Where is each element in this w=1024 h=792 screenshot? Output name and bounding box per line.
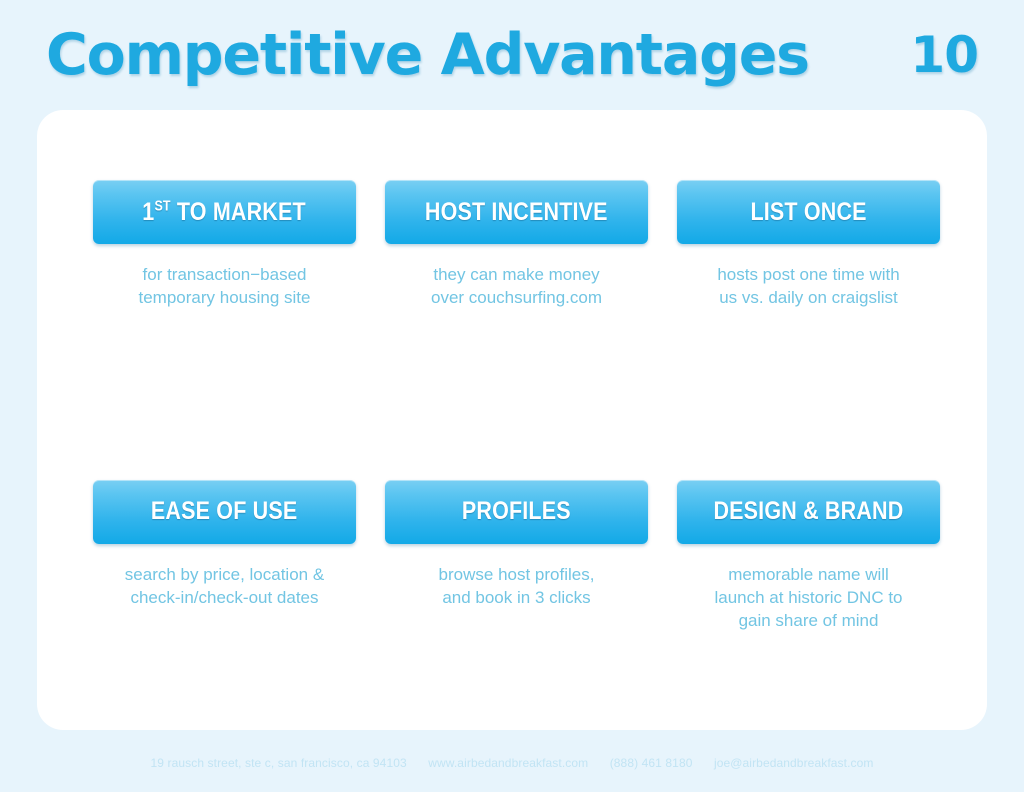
advantage-button-list-once[interactable]: LIST ONCE — [677, 180, 940, 244]
advantage-button-first-to-market[interactable]: 1st TO MARKET — [93, 180, 356, 244]
advantage-caption: browse host profiles, and book in 3 clic… — [385, 564, 648, 610]
advantage-cell-ease-of-use: EASE OF USE search by price, location & … — [93, 480, 356, 633]
advantage-button-ease-of-use[interactable]: EASE OF USE — [93, 480, 356, 544]
caption-line: browse host profiles, — [385, 564, 648, 587]
label-rest: TO MARKET — [171, 198, 306, 226]
caption-line: check-in/check-out dates — [93, 587, 356, 610]
advantage-cell-profiles: PROFILES browse host profiles, and book … — [385, 480, 648, 633]
footer-email[interactable]: joe@airbedandbreakfast.com — [714, 756, 874, 770]
slide-footer: 19 rausch street, ste c, san francisco, … — [0, 756, 1024, 770]
advantage-row: 1st TO MARKET for transaction−based temp… — [93, 180, 941, 310]
caption-line: gain share of mind — [677, 610, 940, 633]
advantage-caption: memorable name will launch at historic D… — [677, 564, 940, 633]
slide-header: Competitive Advantages 10 — [0, 0, 1024, 110]
advantage-button-profiles[interactable]: PROFILES — [385, 480, 648, 544]
content-card: 1st TO MARKET for transaction−based temp… — [37, 110, 987, 730]
caption-line: launch at historic DNC to — [677, 587, 940, 610]
advantage-caption: for transaction−based temporary housing … — [93, 264, 356, 310]
slide-number: 10 — [910, 26, 978, 84]
advantage-caption: hosts post one time with us vs. daily on… — [677, 264, 940, 310]
advantage-caption: they can make money over couchsurfing.co… — [385, 264, 648, 310]
footer-address: 19 rausch street, ste c, san francisco, … — [151, 756, 407, 770]
advantage-button-label: EASE OF USE — [151, 499, 297, 524]
advantage-button-label: LIST ONCE — [750, 200, 866, 225]
advantage-cell-host-incentive: HOST INCENTIVE they can make money over … — [385, 180, 648, 310]
advantage-button-design-and-brand[interactable]: DESIGN & BRAND — [677, 480, 940, 544]
caption-line: search by price, location & — [93, 564, 356, 587]
advantage-button-label: HOST INCENTIVE — [425, 200, 608, 225]
footer-website[interactable]: www.airbedandbreakfast.com — [428, 756, 588, 770]
slide: Competitive Advantages 10 1st TO MARKET … — [0, 0, 1024, 792]
caption-line: hosts post one time with — [677, 264, 940, 287]
caption-line: over couchsurfing.com — [385, 287, 648, 310]
caption-line: and book in 3 clicks — [385, 587, 648, 610]
caption-line: for transaction−based — [93, 264, 356, 287]
page-title: Competitive Advantages — [46, 22, 809, 88]
caption-line: us vs. daily on craigslist — [677, 287, 940, 310]
caption-line: they can make money — [385, 264, 648, 287]
advantage-cell-list-once: LIST ONCE hosts post one time with us vs… — [677, 180, 940, 310]
caption-line: memorable name will — [677, 564, 940, 587]
label-ordinal-number: 1 — [143, 198, 155, 226]
label-ordinal-suffix: st — [155, 198, 171, 214]
advantage-row: EASE OF USE search by price, location & … — [93, 480, 941, 633]
footer-phone: (888) 461 8180 — [610, 756, 693, 770]
advantage-cell-first-to-market: 1st TO MARKET for transaction−based temp… — [93, 180, 356, 310]
advantage-button-label: 1st TO MARKET — [143, 200, 307, 225]
advantage-grid: 1st TO MARKET for transaction−based temp… — [93, 180, 941, 633]
advantage-button-label: DESIGN & BRAND — [714, 499, 904, 524]
advantage-button-host-incentive[interactable]: HOST INCENTIVE — [385, 180, 648, 244]
caption-line: temporary housing site — [93, 287, 356, 310]
advantage-button-label: PROFILES — [462, 499, 571, 524]
advantage-cell-design-and-brand: DESIGN & BRAND memorable name will launc… — [677, 480, 940, 633]
advantage-caption: search by price, location & check-in/che… — [93, 564, 356, 610]
